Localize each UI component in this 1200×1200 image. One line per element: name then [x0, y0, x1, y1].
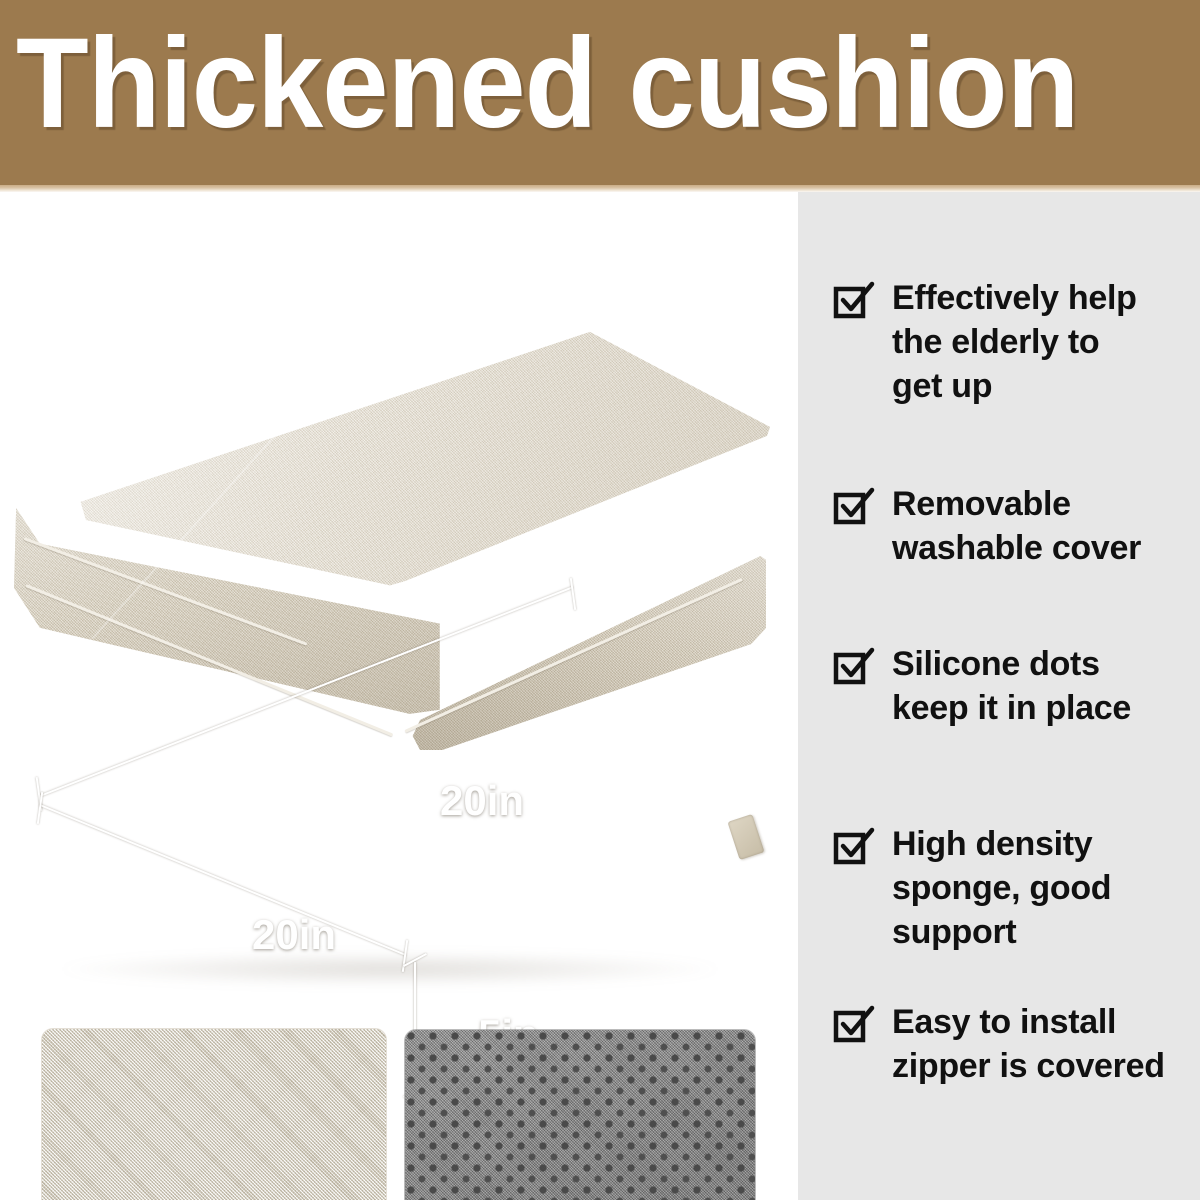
feature-label: Easy to install zipper is covered [892, 1000, 1165, 1088]
checkbox-checked-icon [832, 825, 876, 869]
feature-label: Effectively help the elderly to get up [892, 276, 1137, 408]
feature-item: Easy to install zipper is covered [832, 1000, 1200, 1088]
silicone-dot-swatch [405, 1030, 755, 1200]
infographic-page: Thickened cushion 20in 20in [0, 0, 1200, 1200]
header-banner: Thickened cushion [0, 0, 1200, 185]
cushion-drop-shadow [60, 952, 720, 986]
checkbox-checked-icon [832, 645, 876, 689]
feature-item: Removable washable cover [832, 482, 1200, 570]
depth-dimension-label: 20in [440, 780, 524, 822]
feature-list-panel: Effectively help the elderly to get up R… [798, 192, 1200, 1200]
depth-dimension-tick-end [570, 578, 576, 610]
cushion-illustration: 20in 20in 5in [0, 322, 798, 882]
checkbox-checked-icon [832, 1003, 876, 1047]
header-accent-stripe [0, 185, 1200, 192]
feature-label: Silicone dots keep it in place [892, 642, 1131, 730]
feature-item: Silicone dots keep it in place [832, 642, 1200, 730]
feature-label: High density sponge, good support [892, 822, 1111, 954]
width-dimension-line [40, 804, 406, 956]
feature-item: High density sponge, good support [832, 822, 1200, 954]
linen-fabric-swatch [42, 1029, 386, 1200]
cushion-pull-tab-icon [727, 814, 764, 860]
checkbox-checked-icon [832, 279, 876, 323]
width-dimension-label: 20in [252, 914, 336, 956]
feature-label: Removable washable cover [892, 482, 1141, 570]
feature-item: Effectively help the elderly to get up [832, 276, 1200, 408]
page-title: Thickened cushion [16, 14, 1112, 154]
product-panel: 20in 20in 5in [0, 192, 798, 1200]
checkbox-checked-icon [832, 485, 876, 529]
